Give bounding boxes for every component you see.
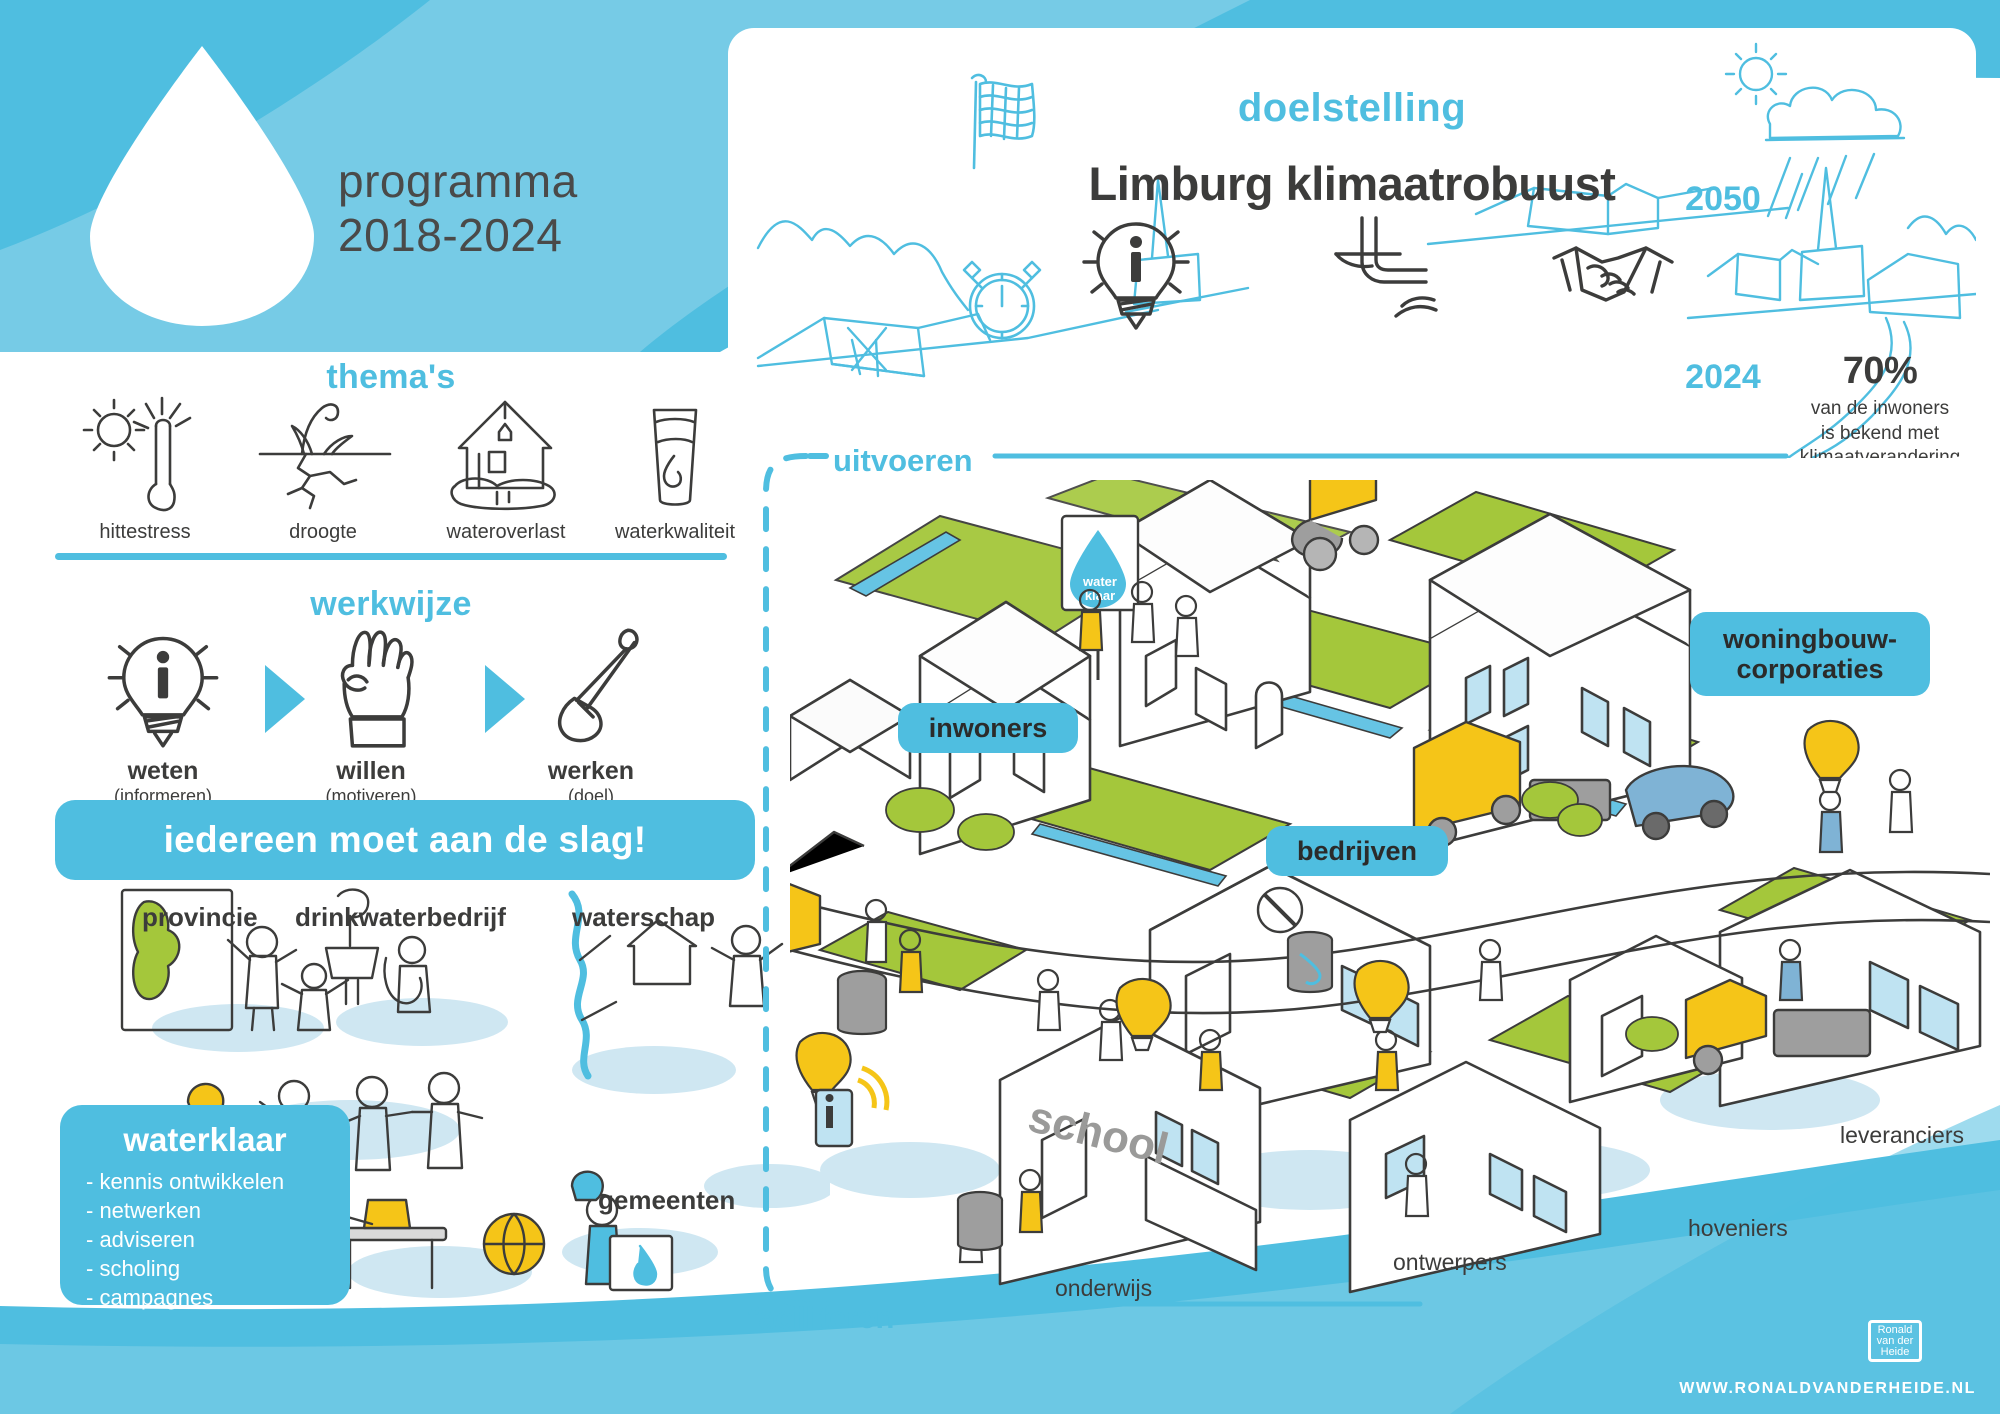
section-divider: [55, 553, 727, 560]
downspout-disconnect-icon: [1318, 210, 1442, 334]
flow-label-uitvoeren: uitvoeren: [833, 443, 973, 479]
handshake-icon: [1548, 214, 1680, 330]
shovel-icon: [526, 622, 656, 752]
waterklaar-box-title: waterklaar: [60, 1121, 350, 1159]
scene-label-onderwijs: onderwijs: [1055, 1275, 1152, 1302]
waterklaar-tasks-box: waterklaar - kennis ontwikkelen - netwer…: [60, 1105, 350, 1305]
theme-hittestress: hittestress: [60, 392, 230, 544]
checkered-flag-icon: [946, 66, 1056, 176]
method-step-willen: willen (motiveren): [278, 622, 464, 807]
method-title: werkwijze: [55, 585, 727, 624]
waterklaar-task-list: - kennis ontwikkelen - netwerken - advis…: [60, 1167, 350, 1312]
scene-label-leveranciers: leveranciers: [1840, 1122, 1964, 1149]
partner-label-gemeenten: gemeenten: [598, 1185, 735, 1216]
flow-label-faciliteren: faciliteren: [748, 1300, 894, 1336]
lightbulb-info-icon: [1076, 208, 1196, 334]
theme-label: waterkwaliteit: [585, 521, 765, 544]
method-step-werken: werken (doel): [498, 622, 684, 807]
theme-wateroverlast: wateroverlast: [416, 392, 596, 544]
dry-cracked-earth-icon: [248, 392, 398, 512]
list-item: - netwerken: [86, 1196, 350, 1225]
theme-label: hittestress: [60, 521, 230, 544]
method-label: werken: [498, 757, 684, 786]
list-item: - campagnes: [86, 1283, 350, 1312]
artist-signature: Ronald van der Heide: [1868, 1320, 1922, 1362]
list-item: - scholing: [86, 1254, 350, 1283]
scene-label-hoveniers: hoveniers: [1688, 1215, 1788, 1242]
stat-value: 70%: [1765, 350, 1976, 393]
partner-label-provincie: provincie: [142, 902, 258, 933]
pill-inwoners[interactable]: inwoners: [898, 703, 1078, 753]
artist-signature-text: Ronald van der Heide: [1871, 1323, 1919, 1359]
method-label: weten: [70, 757, 256, 786]
raised-fist-icon: [306, 622, 436, 752]
stopwatch-icon: [950, 244, 1054, 348]
footer-website-url: WWW.RONALDVANDERHEIDE.NL: [1679, 1380, 1976, 1398]
method-step-weten: weten (informeren): [70, 622, 256, 807]
scene-label-ontwerpers: ontwerpers: [1393, 1249, 1507, 1276]
theme-droogte: droogte: [238, 392, 408, 544]
sun-thermometer-icon: [70, 392, 220, 512]
programma-subtitle: programma 2018-2024: [338, 155, 578, 263]
waterklaar-logo: [82, 40, 322, 330]
theme-label: droogte: [238, 521, 408, 544]
doelstelling-card: doelstelling Limburg klimaatrobuust 2050…: [728, 28, 1976, 458]
goal-title: doelstelling: [728, 86, 1976, 131]
theme-label: wateroverlast: [416, 521, 596, 544]
list-item: - adviseren: [86, 1225, 350, 1254]
list-item: - kennis ontwikkelen: [86, 1167, 350, 1196]
pill-woningbouwcorporaties[interactable]: woningbouw- corporaties: [1690, 612, 1930, 696]
water-drop-icon: [82, 40, 322, 330]
partner-label-waterschap: waterschap: [572, 902, 715, 933]
flooded-house-icon: [431, 392, 581, 512]
method-label: willen: [278, 757, 464, 786]
call-to-action-banner[interactable]: iedereen moet aan de slag!: [55, 800, 755, 880]
infographic-canvas: water klaar programma 2018-2024: [0, 0, 2000, 1414]
partner-label-drinkwaterbedrijf: drinkwaterbedrijf: [295, 902, 506, 933]
flow-connector-frame: [740, 420, 1800, 1340]
lightbulb-info-icon: [98, 622, 228, 752]
pill-bedrijven[interactable]: bedrijven: [1266, 826, 1448, 876]
